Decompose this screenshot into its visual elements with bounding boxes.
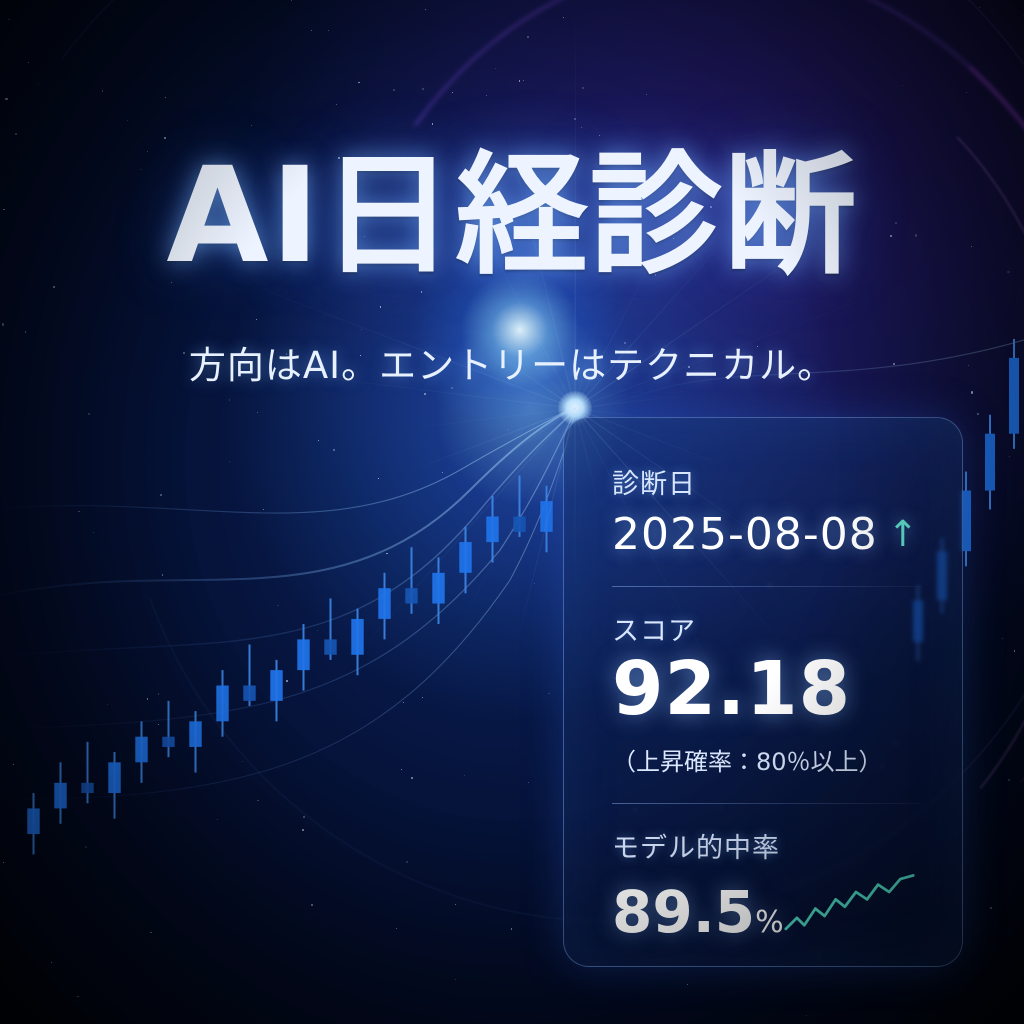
- page-title: AI日経診断: [0, 150, 1024, 282]
- candle-body: [216, 685, 228, 721]
- star-dot: [1023, 15, 1024, 16]
- candle-body: [162, 737, 174, 747]
- star-dot: [102, 90, 104, 92]
- star-dot: [495, 68, 496, 69]
- star-dot: [328, 30, 330, 32]
- star-dot: [28, 62, 29, 63]
- candle-body: [324, 639, 336, 654]
- accuracy-value-group: 89.5%: [612, 883, 784, 941]
- diagnosis-date-value: 2025-08-08: [612, 509, 878, 560]
- candle-body: [297, 639, 309, 670]
- star-dot: [358, 82, 359, 83]
- star-dot: [486, 95, 487, 96]
- candle-body: [432, 573, 444, 604]
- star-dot: [646, 94, 647, 95]
- star-dot: [966, 92, 967, 93]
- diagnosis-date-label: 診断日: [612, 462, 922, 501]
- candle-body: [378, 588, 390, 619]
- star-dot: [311, 30, 312, 31]
- candle-body: [135, 737, 147, 763]
- candle-body: [985, 434, 995, 491]
- star-dot: [5, 98, 7, 100]
- score-note: （上昇確率：80％以上）: [612, 742, 922, 777]
- score-value: 92.18: [612, 652, 922, 726]
- candle-body: [243, 685, 255, 700]
- star-dot: [393, 89, 395, 91]
- star-dot: [422, 88, 424, 90]
- star-dot: [425, 9, 426, 10]
- star-dot: [8, 19, 10, 21]
- star-dot: [291, 0, 292, 1]
- star-dot: [563, 17, 564, 18]
- star-dot: [165, 97, 166, 98]
- score-label: スコア: [612, 609, 922, 648]
- accuracy-label: モデル的中率: [612, 826, 922, 865]
- star-dot: [251, 125, 252, 126]
- star-dot: [432, 123, 433, 124]
- candle-body: [108, 762, 120, 793]
- page-subtitle: 方向はAI。エントリーはテクニカル。: [0, 335, 1024, 389]
- star-dot: [902, 85, 903, 86]
- star-dot: [519, 80, 520, 81]
- candle-body: [81, 783, 93, 793]
- star-dot: [523, 80, 524, 81]
- candle-body: [351, 619, 363, 655]
- trend-up-sparkline-icon: [784, 869, 922, 939]
- accuracy-unit: %: [755, 905, 784, 940]
- candle-body: [27, 808, 39, 834]
- star-dot: [38, 84, 39, 85]
- accuracy-value: 89.5: [612, 878, 755, 946]
- arrow-up-icon: ↑: [888, 517, 919, 553]
- star-dot: [599, 135, 600, 136]
- diagnosis-date-value-row: 2025-08-08 ↑: [612, 509, 922, 560]
- star-dot: [527, 36, 529, 38]
- candle-body: [189, 721, 201, 747]
- candle-body: [459, 542, 471, 573]
- candle-body: [270, 670, 282, 701]
- card-divider-1: [612, 586, 922, 587]
- card-divider-2: [612, 803, 922, 804]
- star-dot: [581, 127, 583, 129]
- candle-body: [54, 783, 66, 809]
- star-dot: [979, 7, 980, 8]
- star-dot: [15, 133, 17, 135]
- candle-body: [486, 516, 498, 542]
- star-dot: [127, 120, 128, 121]
- accuracy-row: 89.5%: [612, 869, 922, 941]
- star-dot: [582, 87, 584, 89]
- star-dot: [452, 92, 454, 94]
- star-dot: [336, 104, 337, 105]
- poster-canvas: AI日経診断 方向はAI。エントリーはテクニカル。 診断日 2025-08-08…: [0, 0, 1024, 1024]
